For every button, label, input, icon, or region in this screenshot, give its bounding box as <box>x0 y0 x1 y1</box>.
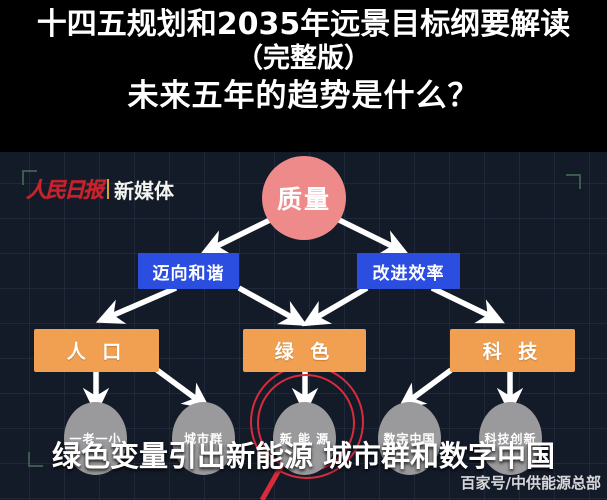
node-population[interactable]: 人 口 <box>34 329 159 372</box>
title-line-2: （完整版） <box>236 45 371 74</box>
title-line-1: 十四五规划和2035年远景目标纲要解读 <box>37 9 571 41</box>
node-improve-efficiency-label: 改进效率 <box>373 259 445 284</box>
arrow-root-to-harmony <box>213 218 274 248</box>
node-toward-harmony-label: 迈向和谐 <box>153 259 225 284</box>
title-header: 十四五规划和2035年远景目标纲要解读 （完整版） 未来五年的趋势是什么？ <box>0 0 607 152</box>
node-toward-harmony[interactable]: 迈向和谐 <box>138 253 239 289</box>
title-line-3: 未来五年的趋势是什么？ <box>128 80 480 113</box>
arrow-root-to-efficiency <box>335 218 396 248</box>
node-quality-label: 质量 <box>277 180 331 216</box>
arrow-technology-to-digital-china <box>409 370 451 401</box>
node-technology-label: 科 技 <box>483 337 543 364</box>
arrow-efficiency-to-green <box>314 288 367 319</box>
node-technology[interactable]: 科 技 <box>450 329 575 372</box>
arrow-harmony-to-population <box>109 288 176 317</box>
arrow-efficiency-to-technology <box>432 288 492 317</box>
arrow-population-to-urban-cluster <box>157 370 199 401</box>
arrow-harmony-to-green <box>239 288 295 319</box>
node-green-label: 绿 色 <box>275 337 335 364</box>
node-improve-efficiency[interactable]: 改进效率 <box>357 253 460 289</box>
screenshot-root: 十四五规划和2035年远景目标纲要解读 （完整版） 未来五年的趋势是什么？ 人民… <box>0 0 607 500</box>
watermark-text: 百家号/中供能源总部 <box>461 472 601 493</box>
bottom-caption: 绿色变量引出新能源 城市群和数字中国 <box>0 433 607 475</box>
node-green[interactable]: 绿 色 <box>243 329 366 372</box>
node-quality[interactable]: 质量 <box>262 156 346 240</box>
node-population-label: 人 口 <box>67 337 127 364</box>
